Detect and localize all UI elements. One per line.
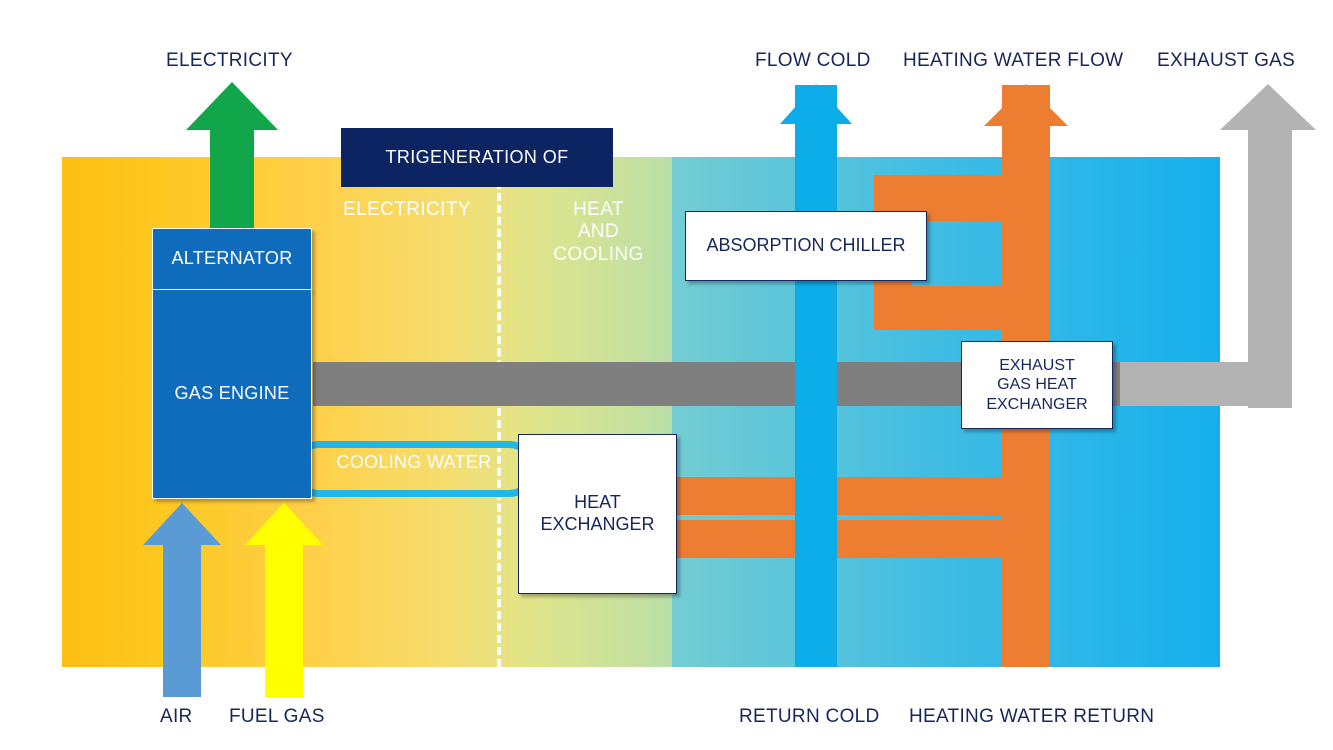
label-fuel-gas: FUEL GAS [229, 706, 325, 728]
arrow-up-grey-exhaust-gas [1220, 84, 1316, 408]
component-absorption-chiller[interactable]: ABSORPTION CHILLER [685, 211, 927, 281]
absorption-chiller-label: ABSORPTION CHILLER [706, 235, 905, 257]
component-heat-exchanger[interactable]: HEAT EXCHANGER [518, 434, 677, 594]
heat-exchanger-label: HEAT EXCHANGER [540, 492, 654, 535]
component-exhaust-gas-heat-exchanger[interactable]: EXHAUST GAS HEAT EXCHANGER [961, 341, 1113, 429]
trigeneration-diagram: ELECTRICITY HEAT AND COOLING ALTERNATOR … [0, 0, 1333, 750]
component-alternator[interactable]: ALTERNATOR [152, 228, 312, 290]
arrow-up-steelblue-air [143, 503, 221, 697]
label-heating-water-flow: HEATING WATER FLOW [903, 50, 1123, 72]
heating-water-pipe-return [672, 520, 1050, 558]
title-banner: TRIGENERATION OF [341, 128, 613, 187]
label-air: AIR [160, 706, 193, 728]
label-exhaust-gas: EXHAUST GAS [1157, 50, 1295, 72]
title-banner-label: TRIGENERATION OF [385, 147, 568, 169]
component-gas-engine[interactable]: GAS ENGINE [152, 289, 312, 499]
label-electricity-out: ELECTRICITY [166, 50, 293, 72]
zone-label-heat-and-cooling: HEAT AND COOLING [551, 199, 646, 266]
heating-water-return-riser [1002, 520, 1050, 667]
arrow-up-yellow-fuel-gas [245, 503, 323, 697]
label-flow-cold: FLOW COLD [755, 50, 871, 72]
gas-engine-label: GAS ENGINE [174, 383, 289, 405]
cold-water-riser [795, 85, 837, 667]
exhaust-gas-heat-exchanger-label: EXHAUST GAS HEAT EXCHANGER [986, 356, 1087, 414]
heating-water-pipe-flow [672, 477, 1050, 515]
zone-label-electricity: ELECTRICITY [343, 199, 471, 221]
label-heating-water-return: HEATING WATER RETURN [909, 706, 1154, 728]
alternator-label: ALTERNATOR [171, 248, 292, 270]
label-return-cold: RETURN COLD [739, 706, 880, 728]
cooling-water-label: COOLING WATER [291, 452, 537, 473]
arrow-up-orange-heating-water-flow [984, 84, 1068, 154]
zone-divider-dashed [497, 157, 501, 667]
arrow-up-green-electricity [186, 82, 278, 232]
arrow-up-cyan-flow-cold [780, 84, 852, 154]
